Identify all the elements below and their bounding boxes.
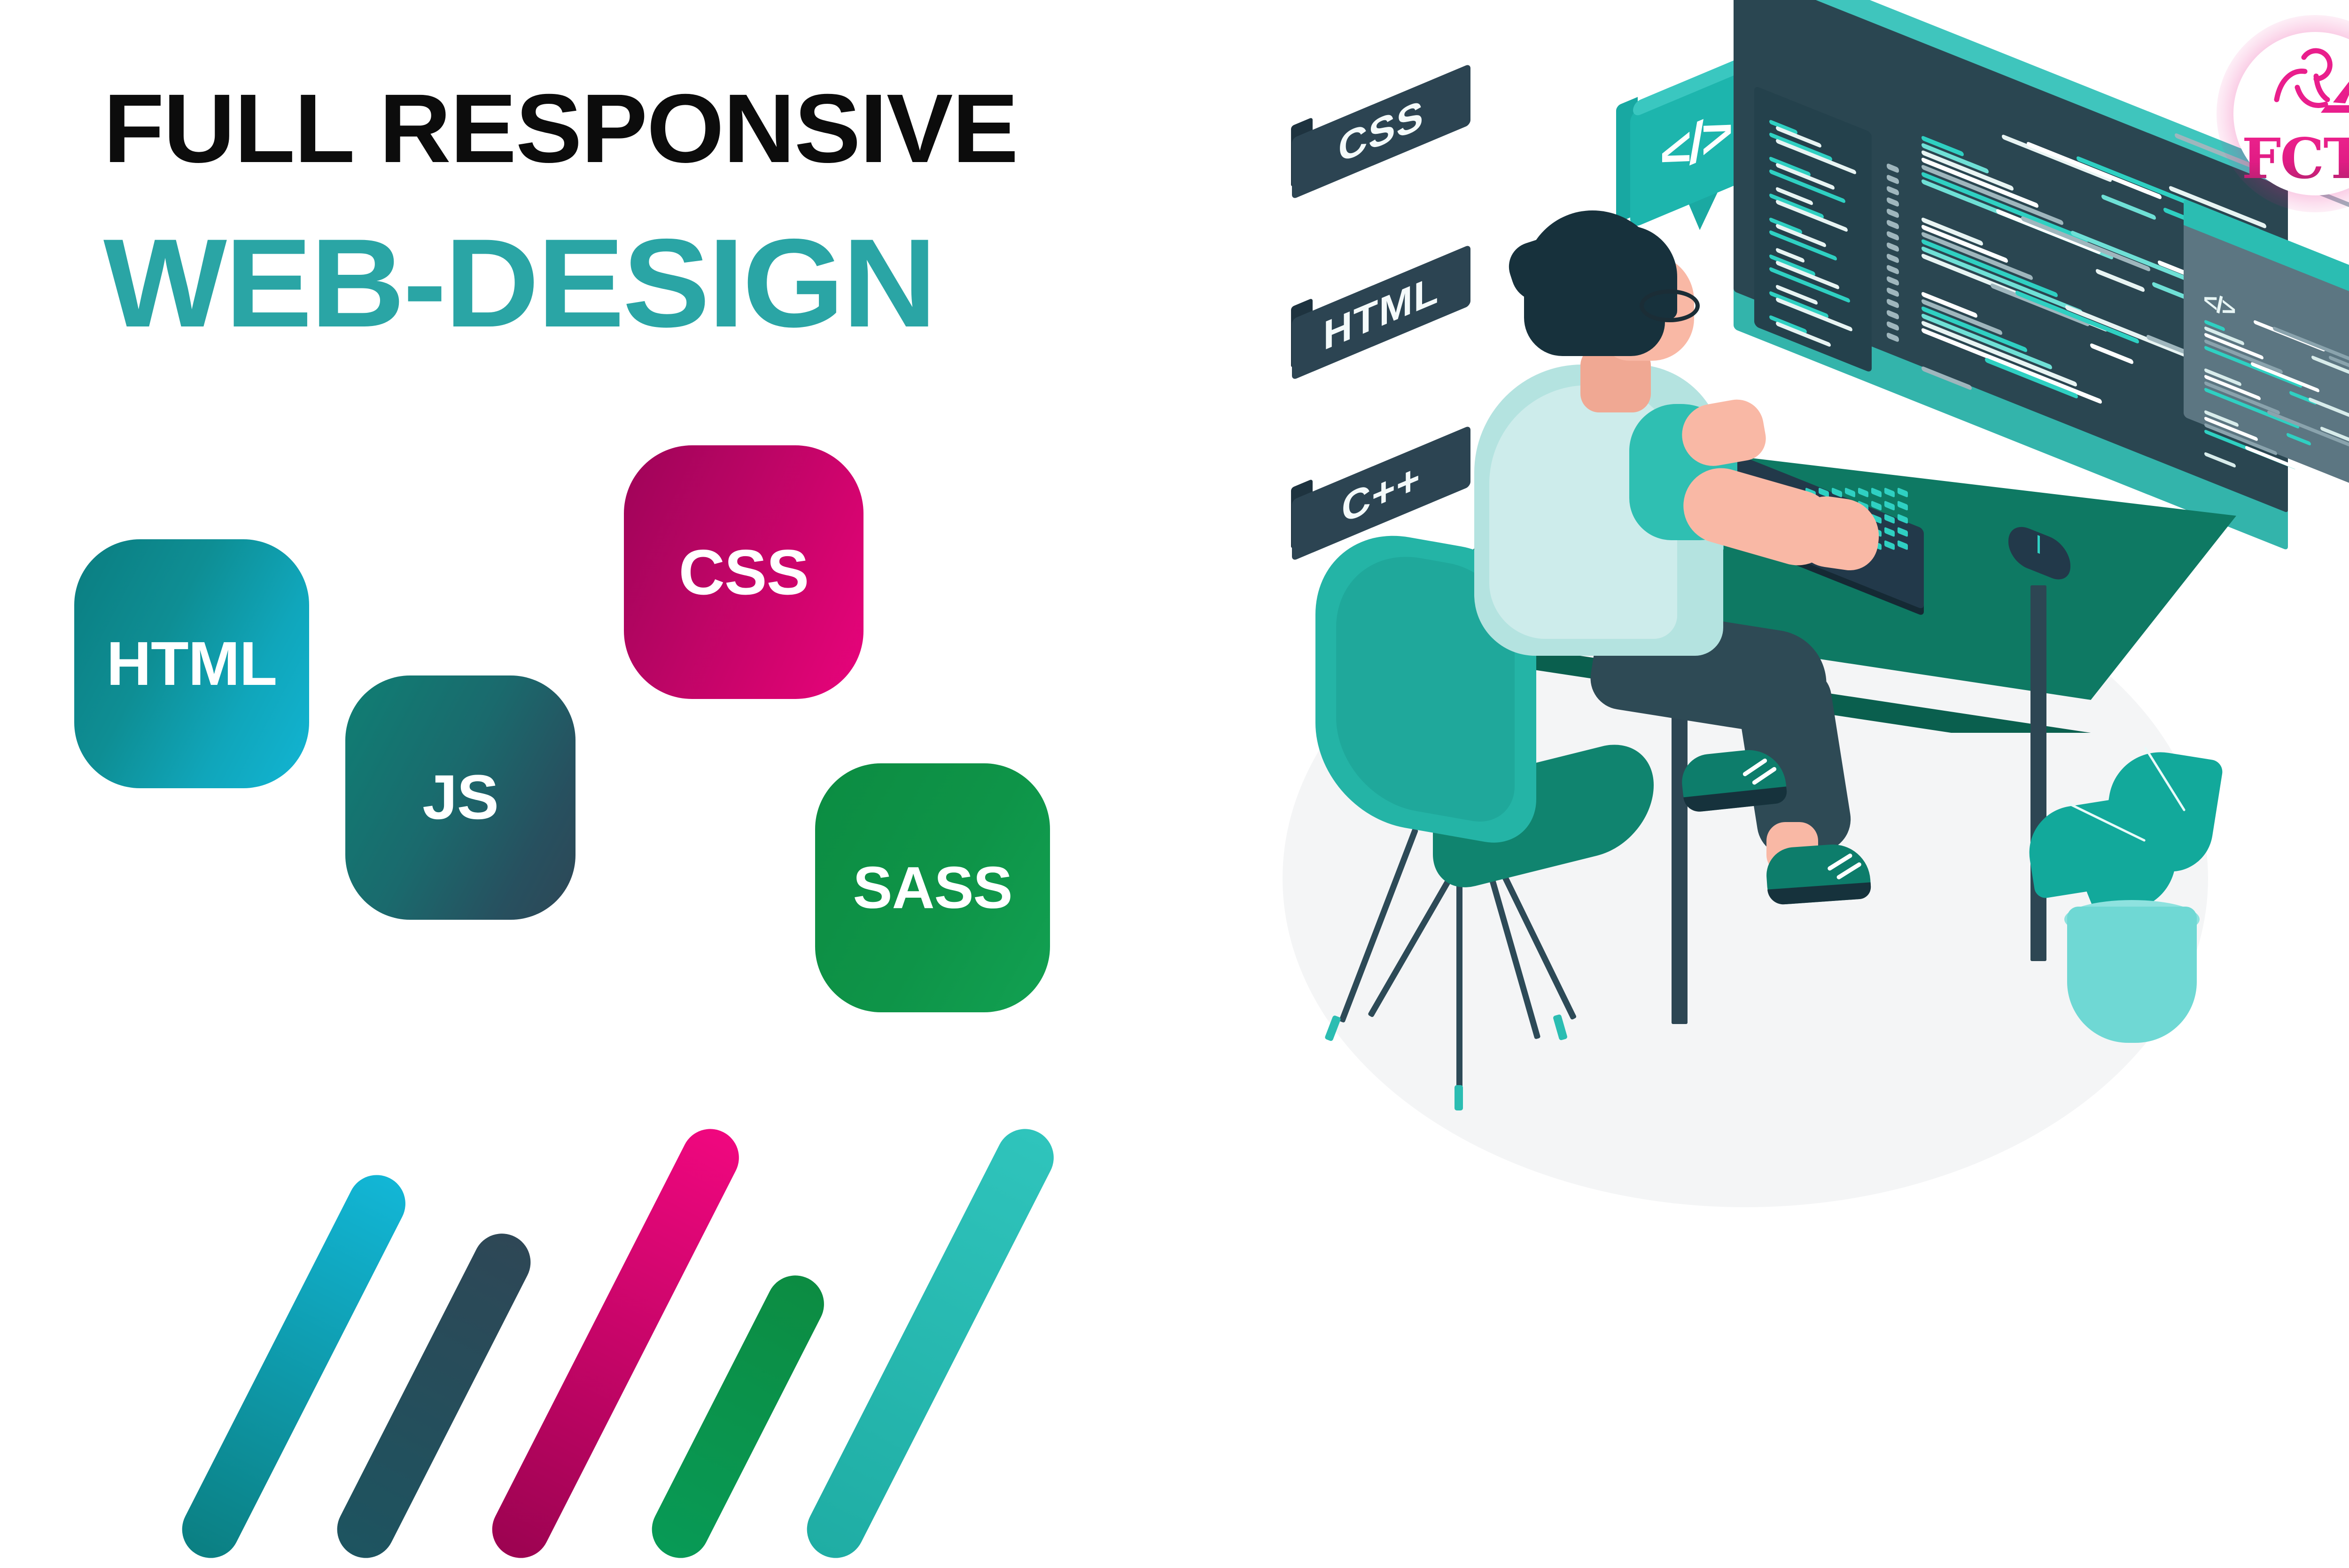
tech-badge-label: JS [422, 766, 498, 829]
tech-badge-js[interactable]: JS [345, 675, 576, 920]
developer-character [1419, 197, 1889, 902]
developer-illustration: CSS HTML C++ </> </> [1165, 0, 2349, 1431]
bar-green [642, 1265, 834, 1568]
potted-plant [2015, 733, 2260, 1052]
secondary-browser-window: </> [2184, 251, 2349, 496]
shoe [1765, 842, 1872, 905]
tech-badge-css[interactable]: CSS [624, 445, 863, 699]
keyboard-key [1898, 488, 1908, 498]
page-title-primary: FULL RESPONSIVE [103, 80, 1206, 178]
person-at-laptop-icon [2233, 42, 2349, 136]
code-line [2204, 452, 2236, 468]
iso-block-css: CSS [1292, 101, 1470, 162]
tech-badge-label: SASS [853, 858, 1012, 917]
pot [2067, 907, 2197, 1043]
logo-wordmark: FCTI [2233, 126, 2349, 191]
tech-badge-html[interactable]: HTML [74, 539, 309, 788]
keyboard-key [1898, 501, 1908, 511]
tech-badge-sass[interactable]: SASS [815, 763, 1050, 1012]
bar-teal [797, 1119, 1064, 1568]
chair-leg [1339, 828, 1419, 1023]
chair-leg-tip [1455, 1085, 1463, 1110]
headline-block: FULL RESPONSIVE WEB-DESIGN [103, 80, 1184, 346]
brand-logo[interactable]: FCTI [2217, 15, 2349, 212]
tech-badge-label: CSS [679, 540, 809, 604]
glasses-icon [1640, 289, 1700, 322]
chair-leg-tip [1553, 1014, 1568, 1041]
page-title-secondary: WEB-DESIGN [103, 220, 1227, 346]
tech-badge-label: HTML [107, 633, 277, 695]
computer-mouse [2008, 533, 2079, 588]
iso-block-label: CSS [1292, 63, 1470, 200]
accent-bars-group [0, 996, 1268, 1433]
chair-leg-tip [1324, 1015, 1341, 1042]
mouse-scroll-line [2038, 535, 2040, 554]
